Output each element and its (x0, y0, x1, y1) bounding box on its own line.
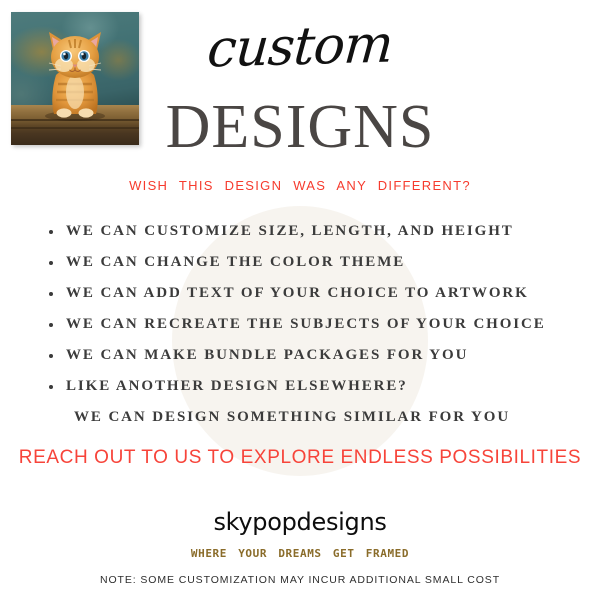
bullet-icon (49, 323, 53, 327)
list-item: WE CAN CUSTOMIZE SIZE, LENGTH, AND HEIGH… (46, 216, 586, 247)
list-item-label: LIKE ANOTHER DESIGN ELSEWHERE? (66, 378, 408, 394)
kitten-illustration (11, 12, 139, 145)
bullet-icon (49, 354, 53, 358)
list-item: WE CAN RECREATE THE SUBJECTS OF YOUR CHO… (46, 309, 586, 340)
bullet-icon (49, 230, 53, 234)
brand-tagline: WHERE YOUR DREAMS GET FRAMED (0, 547, 600, 560)
list-item-label: WE CAN DESIGN SOMETHING SIMILAR FOR YOU (74, 409, 510, 425)
disclaimer-note: NOTE: SOME CUSTOMIZATION MAY INCUR ADDIT… (0, 574, 600, 586)
list-item-label: WE CAN CHANGE THE COLOR THEME (66, 254, 405, 270)
list-item: LIKE ANOTHER DESIGN ELSEWHERE? (46, 371, 586, 402)
bullet-icon (49, 292, 53, 296)
subheading: WISH THIS DESIGN WAS ANY DIFFERENT? (0, 178, 600, 193)
bullet-icon (49, 261, 53, 265)
list-item-label: WE CAN CUSTOMIZE SIZE, LENGTH, AND HEIGH… (66, 223, 514, 239)
list-item-label: WE CAN RECREATE THE SUBJECTS OF YOUR CHO… (66, 316, 546, 332)
list-item: WE CAN MAKE BUNDLE PACKAGES FOR YOU (46, 340, 586, 371)
list-item-continuation: WE CAN DESIGN SOMETHING SIMILAR FOR YOU (46, 402, 586, 433)
kitten-artwork-image[interactable] (11, 12, 139, 145)
brand-name: skypopdesigns (0, 508, 600, 536)
list-item-label: WE CAN MAKE BUNDLE PACKAGES FOR YOU (66, 347, 468, 363)
list-item: WE CAN CHANGE THE COLOR THEME (46, 247, 586, 278)
list-item: WE CAN ADD TEXT OF YOUR CHOICE TO ARTWOR… (46, 278, 586, 309)
bullet-icon (49, 385, 53, 389)
call-to-action-text: REACH OUT TO US TO EXPLORE ENDLESS POSSI… (0, 447, 600, 469)
list-item-label: WE CAN ADD TEXT OF YOUR CHOICE TO ARTWOR… (66, 285, 529, 301)
listing-graphic: custom DESIGNS WISH THIS DESIGN WAS ANY … (0, 0, 600, 600)
customization-feature-list: WE CAN CUSTOMIZE SIZE, LENGTH, AND HEIGH… (46, 216, 586, 433)
